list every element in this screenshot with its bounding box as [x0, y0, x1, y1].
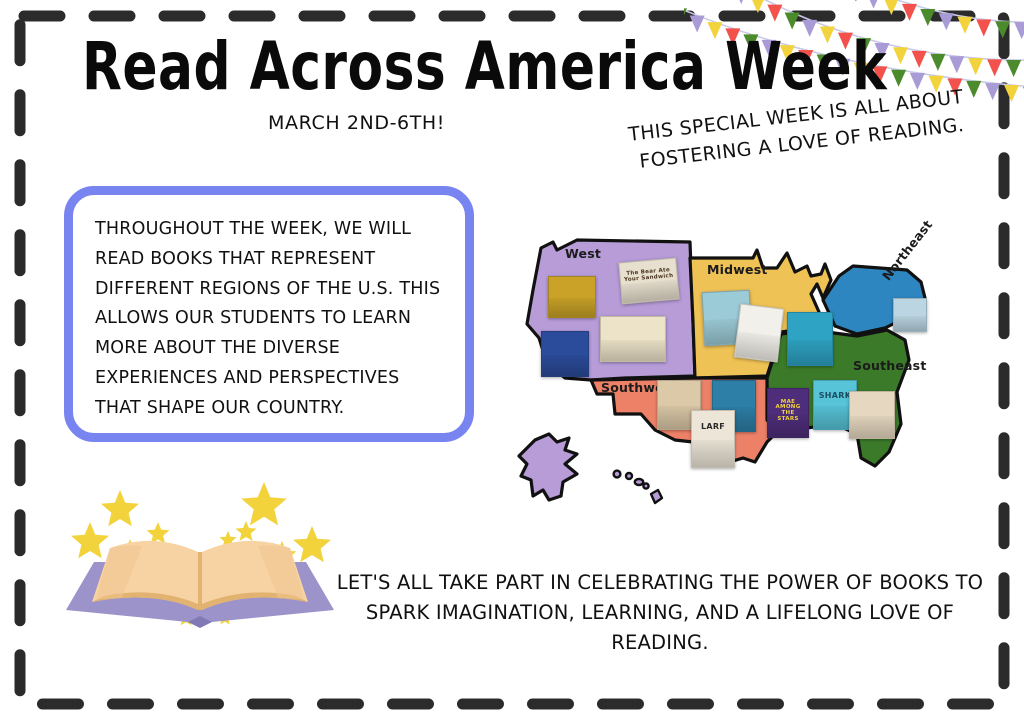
- map-book-cover: [893, 298, 927, 332]
- us-regions-map: West Midwest Northeast Southeast Southwe…: [505, 228, 945, 518]
- book-cover-artwork: [850, 416, 894, 438]
- bunting-flag: [968, 58, 983, 75]
- star-icon: [71, 522, 109, 558]
- bunting-flag: [966, 81, 981, 98]
- info-callout-text: THROUGHOUT THE WEEK, WE WILL READ BOOKS …: [95, 215, 451, 423]
- bunting-flag: [920, 9, 935, 26]
- bunting-flag: [848, 0, 863, 2]
- poster-canvas: Read Across America Week MARCH 2ND-6TH! …: [0, 0, 1024, 726]
- bunting-flag: [930, 54, 945, 71]
- book-cover-title: LARF: [692, 423, 734, 431]
- bunting-flag: [866, 0, 881, 9]
- bunting-flag: [957, 17, 972, 34]
- book-cover-artwork: [542, 355, 588, 376]
- open-book-illustration: [50, 470, 350, 650]
- closing-paragraph: LET'S ALL TAKE PART IN CELEBRATING THE P…: [336, 568, 984, 659]
- map-book-cover: [734, 304, 784, 363]
- bunting-flag: [987, 59, 1002, 76]
- map-book-cover: [541, 331, 589, 377]
- bunting-flag: [884, 0, 899, 15]
- poster-title: Read Across America Week: [82, 28, 887, 105]
- book-cover-title: MAE AMONG THE STARS: [768, 400, 808, 423]
- map-book-cover: [787, 312, 833, 366]
- star-icon: [101, 490, 139, 526]
- bunting-flag: [902, 4, 917, 21]
- poster-date-subtitle: MARCH 2ND-6TH!: [268, 112, 445, 134]
- bunting-flag: [949, 56, 964, 73]
- bunting-flag: [893, 47, 908, 64]
- star-icon: [241, 482, 287, 525]
- bunting-flag: [976, 19, 991, 36]
- bunting-flag: [995, 21, 1010, 38]
- bunting-flag: [767, 5, 782, 22]
- star-icon: [293, 526, 331, 562]
- map-book-cover: The Bear Ate Your Sandwich: [618, 258, 679, 305]
- bunting-flag: [1006, 60, 1021, 77]
- map-book-cover: [600, 316, 666, 362]
- bunting-flag: [939, 13, 954, 30]
- bunting-flag: [785, 12, 800, 29]
- bunting-flag: [750, 0, 765, 13]
- bunting-flag: [985, 83, 1000, 100]
- star-icon: [147, 522, 170, 544]
- book-cover-artwork: [894, 316, 926, 331]
- bunting-flag: [734, 0, 749, 4]
- closing-line-1: LET'S ALL TAKE PART IN CELEBRATING THE P…: [337, 571, 983, 594]
- book-cover-artwork: [692, 440, 734, 467]
- book-cover-artwork: [549, 298, 595, 317]
- map-book-cover: LARF: [691, 410, 735, 468]
- bunting-flag: [891, 70, 906, 87]
- book-cover-artwork: [735, 331, 780, 361]
- bunting-flag: [1014, 22, 1024, 39]
- map-book-cover: MAE AMONG THE STARS: [767, 388, 809, 438]
- star-icon: [236, 521, 257, 541]
- bunting-flag: [912, 51, 927, 68]
- book-cover-artwork: [601, 340, 665, 361]
- info-callout-box: THROUGHOUT THE WEEK, WE WILL READ BOOKS …: [64, 186, 474, 442]
- book-spine: [198, 552, 202, 610]
- map-book-cover: [849, 391, 895, 439]
- map-book-cover: [548, 276, 596, 318]
- closing-line-2: SPARK IMAGINATION, LEARNING, AND A LIFEL…: [366, 601, 954, 654]
- bunting-flag: [1004, 85, 1019, 102]
- map-book-covers-layer: The Bear Ate Your SandwichLARFMAE AMONG …: [505, 228, 945, 518]
- book-cover-artwork: [788, 340, 832, 365]
